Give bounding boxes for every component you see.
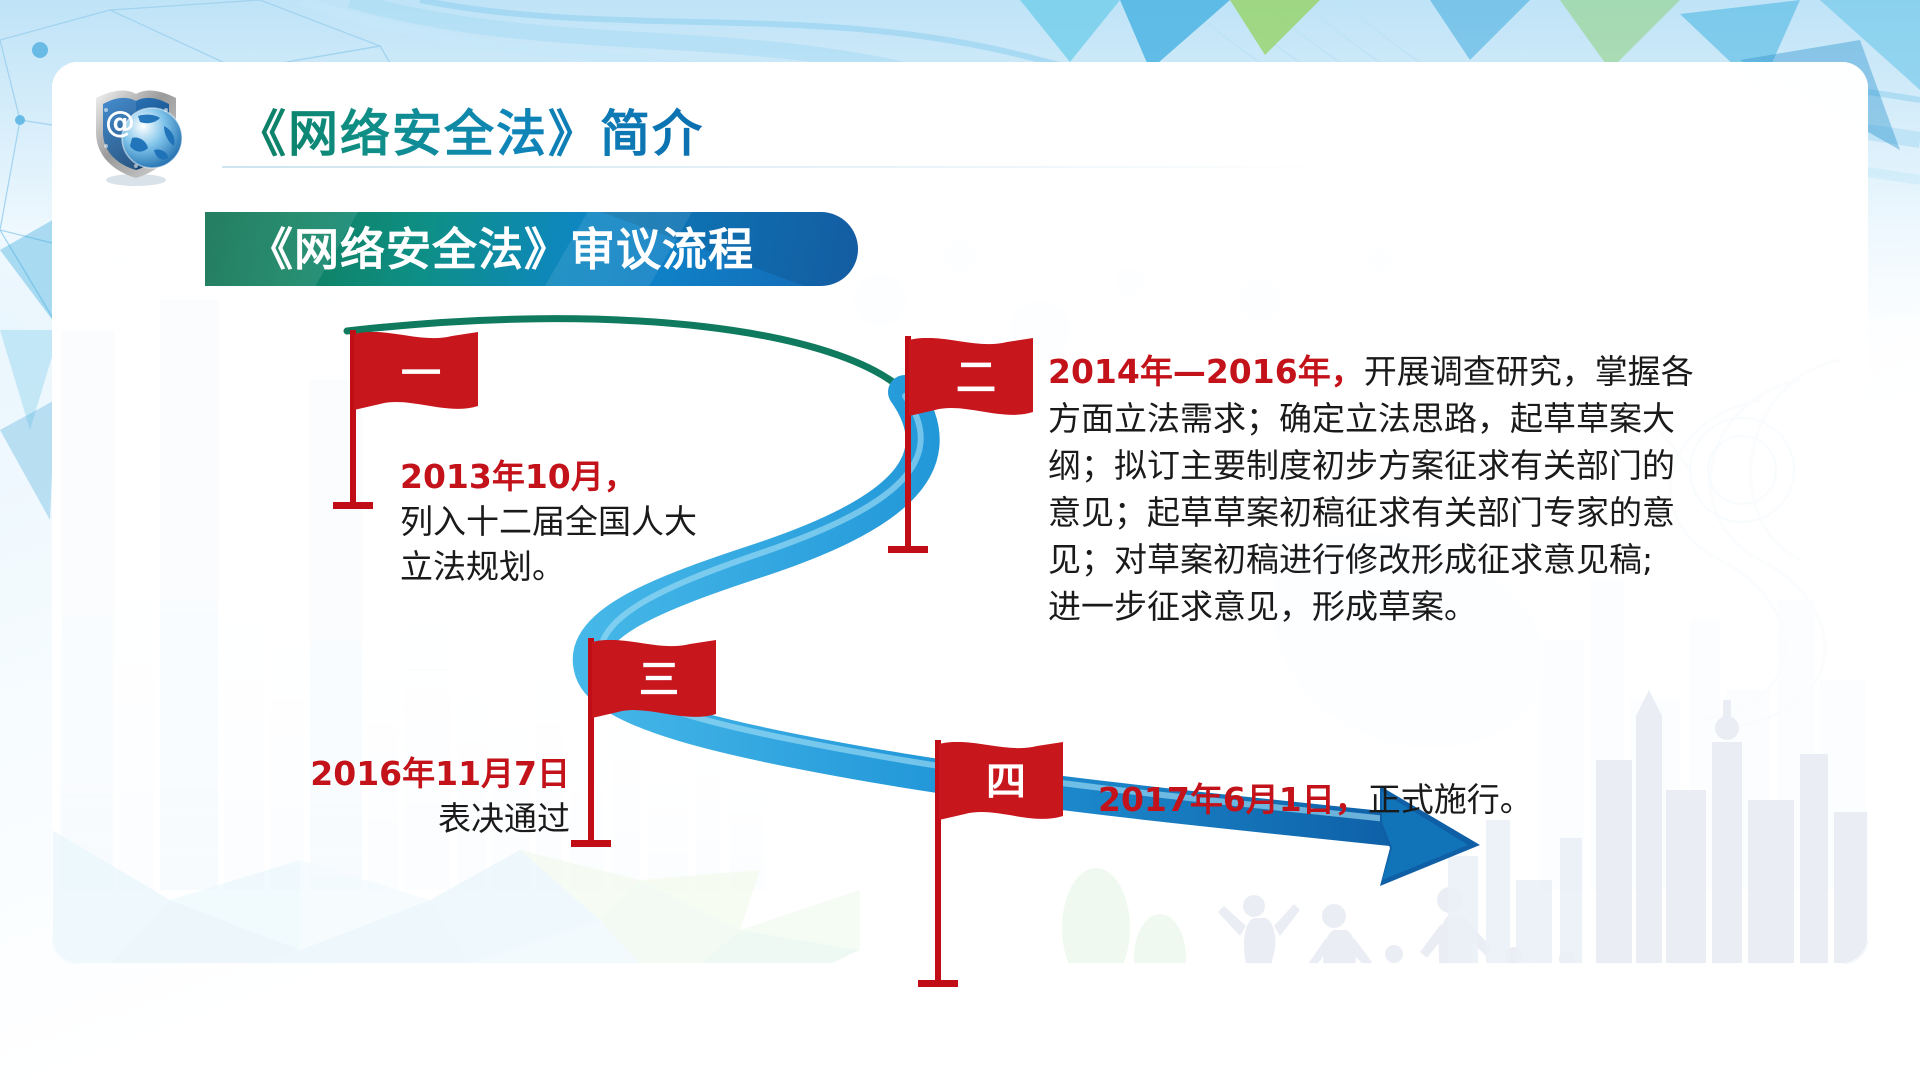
timeline-text-2: 2014年—2016年，开展调查研究，掌握各 方面立法需求；确定立法思路，起草草… [1048,348,1808,630]
timeline-body-1-line-2: 立法规划。 [400,544,800,589]
timeline-body-2-line-2: 方面立法需求；确定立法思路，起草草案大 [1048,395,1808,442]
timeline-para-2-line-1: 2014年—2016年，开展调查研究，掌握各 [1048,348,1808,395]
timeline-lead-4: 2017年6月1日， [1098,780,1368,819]
flag-number-3: 三 [604,658,714,702]
timeline-body-2-line-6: 进一步征求意见，形成草案。 [1048,583,1808,630]
flag-base [333,502,373,509]
flag-marker-2: 二 [905,336,1045,556]
flag-base [888,546,928,553]
timeline-lead-2: 2014年—2016年， [1048,352,1364,391]
flag-number-2: 二 [921,356,1031,400]
flag-marker-4: 四 [935,740,1075,990]
slide-canvas: @ 《网络安全法》简介 《网络安全法》审议流程 [0,0,1920,1080]
timeline-body-2-line-1: 开展调查研究，掌握各 [1364,352,1694,391]
timeline-body-2-line-3: 纲；拟订主要制度初步方案征求有关部门的 [1048,442,1808,489]
timeline-body-1-line-1: 列入十二届全国人大 [400,499,800,544]
timeline-body-3-line-1: 表决通过 [170,796,570,841]
flag-base [571,840,611,847]
flag-base [918,980,958,987]
timeline-text-4: 2017年6月1日，正式施行。 [1098,778,1738,822]
timeline-body-2-line-5: 见；对草案初稿进行修改形成征求意见稿; [1048,536,1808,583]
flag-number-1: 一 [366,352,476,396]
timeline-text-3: 2016年11月7日 表决通过 [170,752,570,841]
timeline-body-2-line-4: 意见；起草草案初稿征求有关部门专家的意 [1048,489,1808,536]
flag-number-4: 四 [951,760,1061,804]
section-banner-label: 《网络安全法》审议流程 [248,224,754,276]
timeline-body-4-line-1: 正式施行。 [1368,780,1533,819]
timeline-lead-3: 2016年11月7日 [170,752,570,796]
flag-marker-3: 三 [588,638,728,850]
timeline-text-1: 2013年10月， 列入十二届全国人大 立法规划。 [400,455,800,589]
timeline-lead-1: 2013年10月， [400,455,800,499]
